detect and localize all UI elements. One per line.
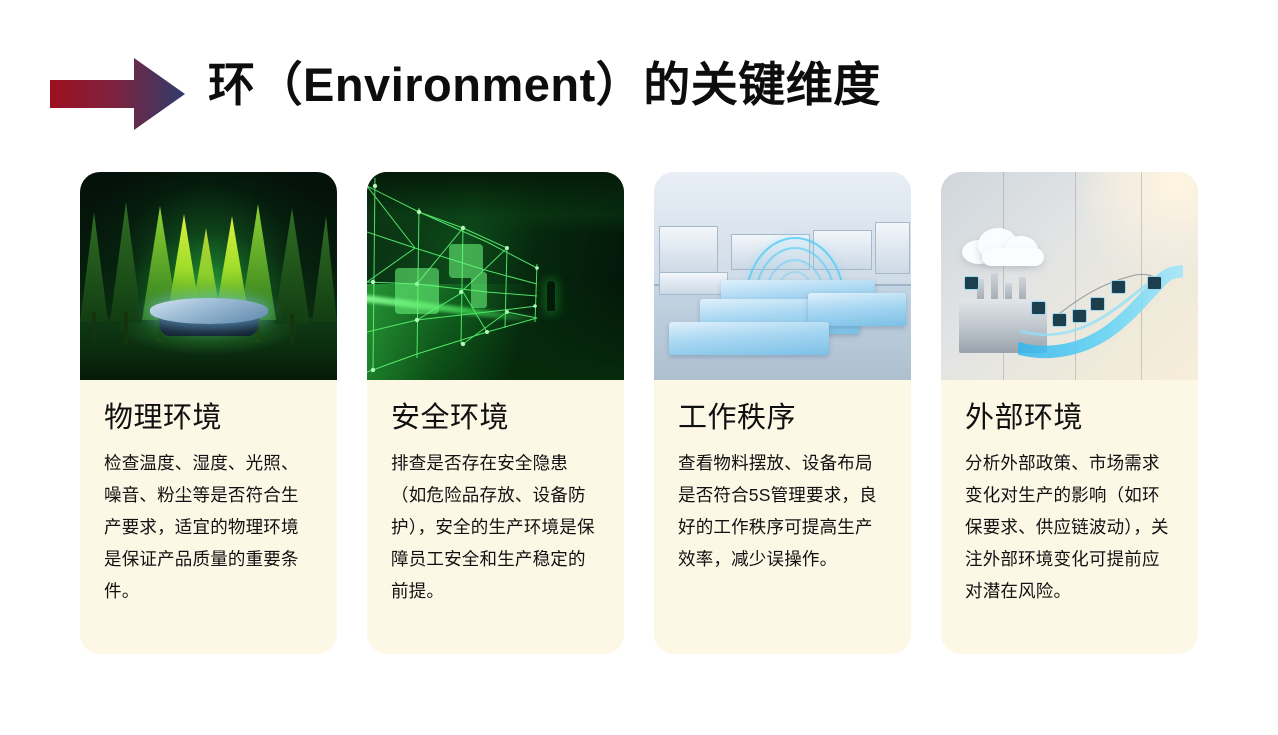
cloud-shape	[962, 228, 1048, 264]
card-work-order[interactable]: 工作秩序 查看物料摆放、设备布局是否符合5S管理要求，良好的工作秩序可提高生产效…	[654, 172, 911, 654]
data-chip	[1111, 280, 1126, 294]
workshop-bench-left	[659, 272, 728, 295]
data-chip	[1072, 309, 1087, 323]
mesh-network-wall	[367, 172, 624, 380]
card-description: 检查温度、湿度、光照、噪音、粉尘等是否符合生产要求，适宜的物理环境是保证产品质量…	[104, 447, 313, 607]
slide-header: 环（Environment）的关键维度	[0, 0, 1278, 160]
card-body: 外部环境 分析外部政策、市场需求变化对生产的影响（如环保要求、供应链波动），关注…	[941, 380, 1198, 607]
card-physical-environment[interactable]: 物理环境 检查温度、湿度、光照、噪音、粉尘等是否符合生产要求，适宜的物理环境是保…	[80, 172, 337, 654]
page-title: 环（Environment）的关键维度	[208, 56, 881, 115]
corridor-person-silhouette	[547, 281, 555, 311]
card-description: 分析外部政策、市场需求变化对生产的影响（如环保要求、供应链波动），关注外部环境变…	[965, 447, 1174, 607]
right-arrow-icon	[50, 58, 185, 130]
data-chip	[1090, 297, 1105, 311]
data-chip	[1052, 313, 1067, 327]
card-body: 工作秩序 查看物料摆放、设备布局是否符合5S管理要求，良好的工作秩序可提高生产效…	[654, 380, 911, 575]
card-description: 排查是否存在安全隐患（如危险品存放、设备防护），安全的生产环境是保障员工安全和生…	[391, 447, 600, 607]
card-body: 物理环境 检查温度、湿度、光照、噪音、粉尘等是否符合生产要求，适宜的物理环境是保…	[80, 380, 337, 607]
card-title: 安全环境	[391, 402, 600, 435]
card-description: 查看物料摆放、设备布局是否符合5S管理要求，良好的工作秩序可提高生产效率，减少误…	[678, 447, 887, 575]
workshop-control-panel	[659, 226, 718, 274]
card-title: 外部环境	[965, 402, 1174, 435]
card-title: 物理环境	[104, 402, 313, 435]
cloud-factory-datastream-image	[941, 172, 1198, 380]
blue-workshop-stacks-image	[654, 172, 911, 380]
data-chip	[1147, 276, 1162, 290]
forest-podium	[150, 298, 268, 338]
card-external-environment[interactable]: 外部环境 分析外部政策、市场需求变化对生产的影响（如环保要求、供应链波动），关注…	[941, 172, 1198, 654]
data-chip	[964, 276, 979, 290]
card-body: 安全环境 排查是否存在安全隐患（如危险品存放、设备防护），安全的生产环境是保障员…	[367, 380, 624, 607]
data-chip	[1031, 301, 1046, 315]
dimension-cards-row: 物理环境 检查温度、湿度、光照、噪音、粉尘等是否符合生产要求，适宜的物理环境是保…	[80, 172, 1198, 654]
material-stack-right	[808, 293, 906, 326]
forest-trees	[80, 172, 337, 380]
card-title: 工作秩序	[678, 402, 887, 435]
material-stack-front	[669, 322, 828, 355]
glowing-forest-podium-image	[80, 172, 337, 380]
green-mesh-corridor-image	[367, 172, 624, 380]
card-safety-environment[interactable]: 安全环境 排查是否存在安全隐患（如危险品存放、设备防护），安全的生产环境是保障员…	[367, 172, 624, 654]
workshop-cabinet-far-right	[875, 222, 910, 274]
